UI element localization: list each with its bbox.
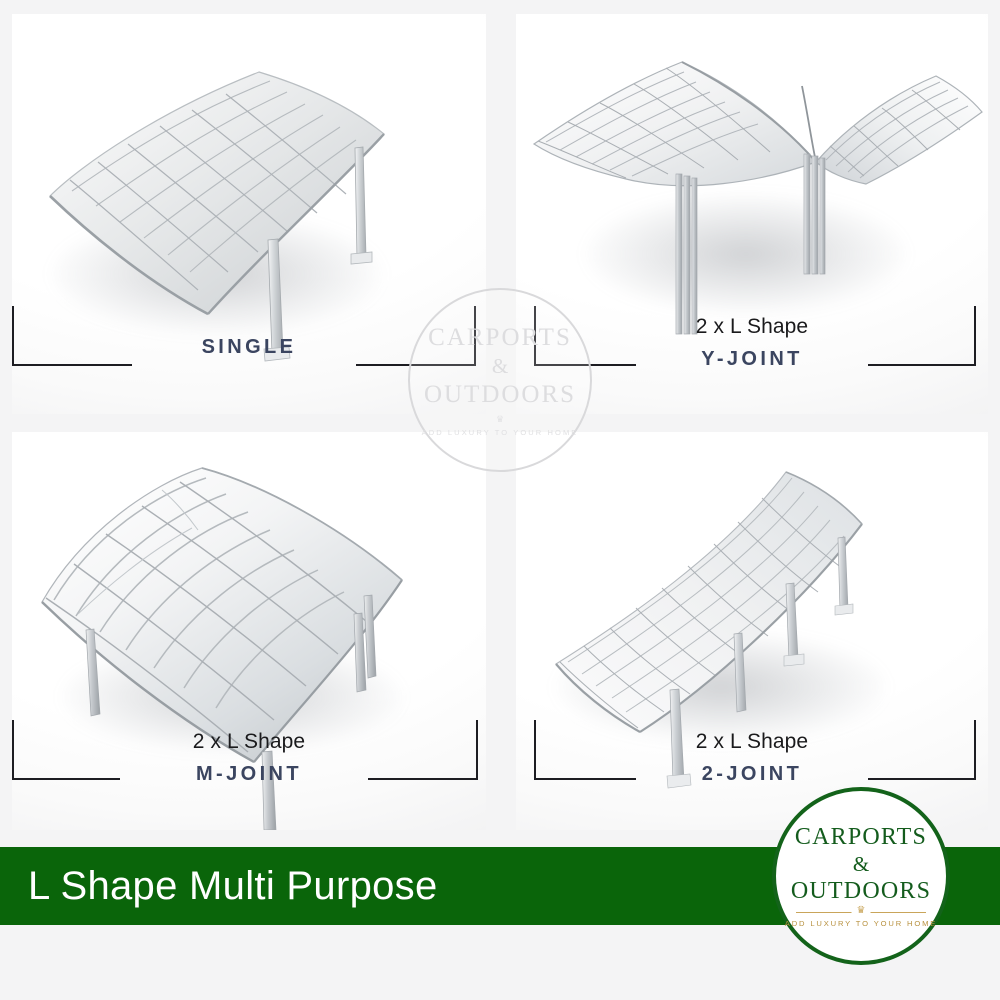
panel-single[interactable]: SINGLE	[12, 14, 486, 414]
logo-divider: ♛	[796, 912, 926, 913]
panel-m-joint[interactable]: 2 x L Shape M-JOINT	[12, 432, 486, 830]
panel-2-joint[interactable]: 2 x L Shape 2-JOINT	[516, 432, 988, 830]
single-curved-carport	[12, 14, 486, 414]
m-joint-arched-carport	[12, 432, 486, 830]
logo-line-1: CARPORTS	[795, 824, 927, 851]
crown-icon: ♛	[852, 904, 871, 918]
y-joint-butterfly-carport	[516, 14, 988, 414]
logo-ampersand: &	[853, 852, 869, 877]
product-grid: SINGLE	[0, 0, 1000, 845]
two-joint-long-carport	[516, 432, 988, 830]
poster-canvas: SINGLE	[0, 0, 1000, 1000]
panel-y-joint[interactable]: 2 x L Shape Y-JOINT	[516, 14, 988, 414]
banner-title: L Shape Multi Purpose	[28, 864, 438, 909]
logo-line-2: OUTDOORS	[791, 878, 931, 905]
brand-logo-badge[interactable]: CARPORTS & OUTDOORS ♛ ADD LUXURY TO YOUR…	[772, 787, 950, 965]
logo-tagline: ADD LUXURY TO YOUR HOME	[785, 919, 937, 928]
